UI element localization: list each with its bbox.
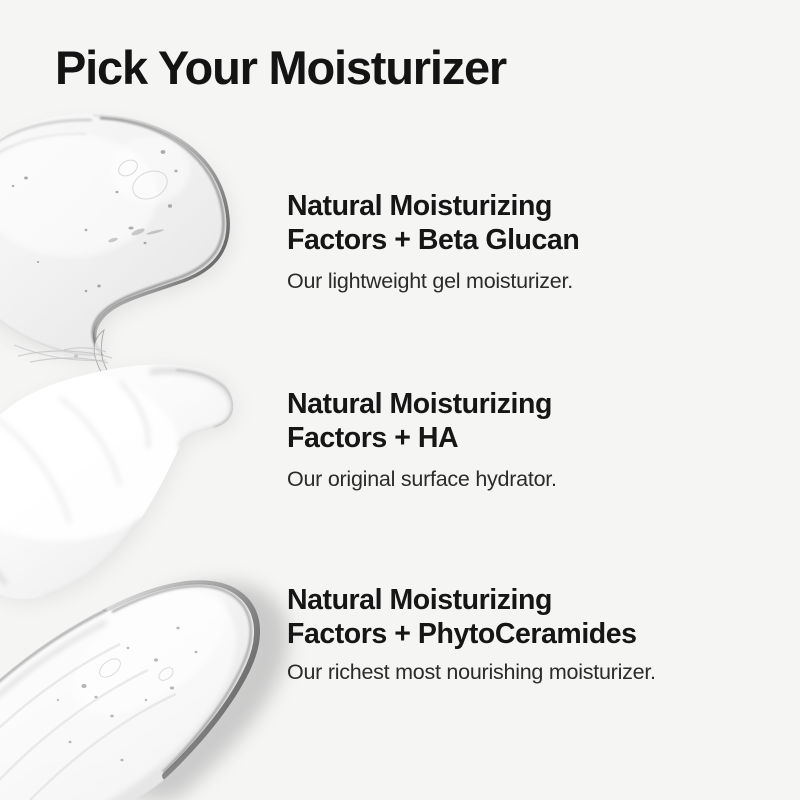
product-name: Natural Moisturizing Factors + PhytoCera… <box>287 583 757 652</box>
white-cream-dollop-swatch <box>0 348 236 603</box>
product-item-phytoceramides[interactable]: Natural Moisturizing Factors + PhytoCera… <box>287 583 757 686</box>
product-name: Natural Moisturizing Factors + Beta Gluc… <box>287 189 757 258</box>
product-item-beta-glucan[interactable]: Natural Moisturizing Factors + Beta Gluc… <box>287 189 757 295</box>
product-list: Natural Moisturizing Factors + Beta Gluc… <box>287 0 787 800</box>
product-item-ha[interactable]: Natural Moisturizing Factors + HA Our or… <box>287 387 757 493</box>
thick-cream-smear-swatch <box>0 541 289 800</box>
product-description: Our original surface hydrator. <box>287 466 757 493</box>
product-description: Our richest most nourishing moisturizer. <box>287 659 757 686</box>
moisturizer-comparison-page: Pick Your Moisturizer Natural Moisturizi… <box>0 0 800 800</box>
product-description: Our lightweight gel moisturizer. <box>287 268 757 295</box>
product-name: Natural Moisturizing Factors + HA <box>287 387 757 456</box>
clear-gel-swatch <box>0 114 232 386</box>
